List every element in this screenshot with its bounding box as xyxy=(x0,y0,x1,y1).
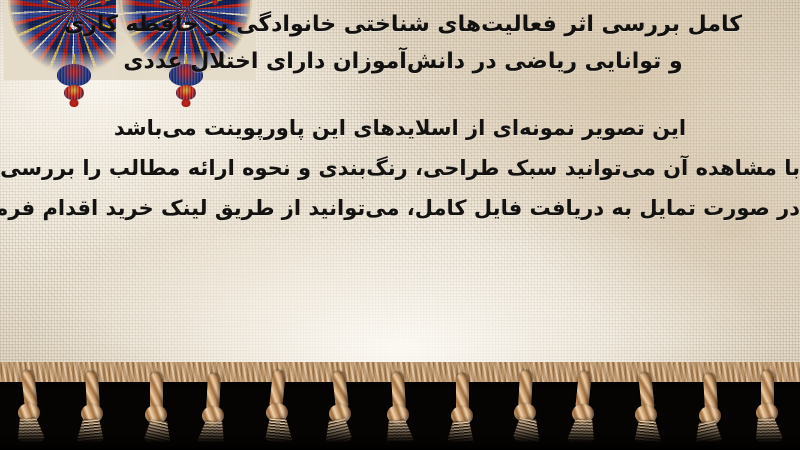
title-line-1: کامل بررسی اثر فعالیت‌های شناختی خانوادگ… xyxy=(6,6,800,43)
body-line-1: این تصویر نمونه‌ای از اسلایدهای این پاور… xyxy=(0,108,800,148)
title-line-2: و توانایی ریاضی در دانش‌آموزان دارای اخت… xyxy=(6,43,800,80)
black-bottom-shade xyxy=(0,424,800,450)
body-line-3: در صورت تمایل به دریافت فایل کامل، می‌تو… xyxy=(0,188,800,228)
fringe-band xyxy=(0,362,800,450)
slide-title: کامل بررسی اثر فعالیت‌های شناختی خانوادگ… xyxy=(0,6,800,80)
slide-canvas: کامل بررسی اثر فعالیت‌های شناختی خانوادگ… xyxy=(0,0,800,450)
text-layer: کامل بررسی اثر فعالیت‌های شناختی خانوادگ… xyxy=(0,0,800,378)
slide-body: این تصویر نمونه‌ای از اسلایدهای این پاور… xyxy=(0,108,800,228)
body-line-2: با مشاهده آن می‌توانید سبک طراحی، رنگ‌بن… xyxy=(0,148,800,188)
